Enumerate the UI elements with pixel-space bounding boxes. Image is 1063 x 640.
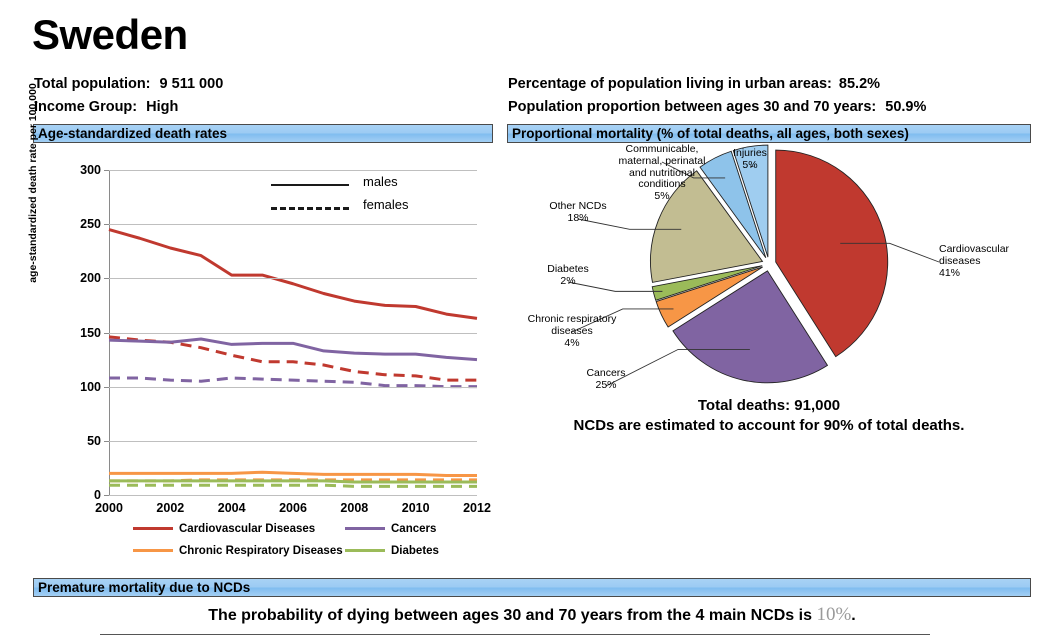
urban-population-label: Percentage of population living in urban… (508, 76, 832, 92)
grid-line (109, 333, 477, 334)
urban-population-value: 85.2% (836, 76, 880, 92)
y-axis-tick-label: 300 (80, 163, 101, 177)
pie-label-injuries: Injuries 5% (695, 148, 805, 172)
y-axis-label: age-standardized death rate per 100,000 (27, 68, 39, 298)
grid-line (109, 278, 477, 279)
income-group-line: Income Group: High (34, 99, 178, 115)
grid-line (109, 441, 477, 442)
ncd-share-text: NCDs are estimated to account for 90% of… (507, 416, 1031, 436)
pie-label-cancers: Cancers 25% (551, 368, 661, 392)
y-axis-tick (104, 387, 109, 388)
legend-label: Cancers (391, 523, 436, 535)
line-chart-plot-area: 0501001502002503002000200220042006200820… (109, 170, 477, 495)
line-series-diabetes-females (109, 485, 477, 486)
legend-label: Chronic Respiratory Diseases (179, 545, 343, 557)
page-title: Sweden (32, 14, 188, 56)
premature-text-before: The probability of dying between ages 30… (208, 607, 812, 624)
y-axis-tick (104, 278, 109, 279)
ncd-country-profile-page: Sweden Total population: 9 511 000 Incom… (0, 0, 1063, 640)
legend-item-diabetes: Diabetes (345, 545, 439, 557)
y-axis-tick (104, 224, 109, 225)
pie-label-chronic-respiratory: Chronic respiratory diseases 4% (517, 314, 627, 349)
line-series-cancers-males (109, 339, 477, 360)
x-axis-tick-label: 2002 (156, 501, 184, 515)
age-proportion-label: Population proportion between ages 30 an… (508, 99, 876, 115)
income-group-label: Income Group: (34, 99, 137, 115)
urban-population-line: Percentage of population living in urban… (508, 76, 880, 92)
total-population-line: Total population: 9 511 000 (34, 76, 223, 92)
legend-color-swatch (345, 549, 385, 552)
y-axis-tick-label: 0 (94, 488, 101, 502)
x-axis-tick-label: 2004 (218, 501, 246, 515)
legend-color-swatch (133, 527, 173, 530)
pie-footer: Total deaths: 91,000 NCDs are estimated … (507, 396, 1031, 437)
pie-label-other-ncds: Other NCDs 18% (523, 201, 633, 225)
total-population-value: 9 511 000 (155, 76, 224, 92)
y-axis-tick (104, 170, 109, 171)
grid-line (109, 224, 477, 225)
pie-label-cardiovascular: Cardiovascular diseases 41% (939, 244, 1049, 279)
x-axis-tick-label: 2000 (95, 501, 123, 515)
grid-line (109, 387, 477, 388)
line-series-cancers-females (109, 378, 477, 387)
y-axis-tick (104, 495, 109, 496)
x-axis-tick-label: 2008 (340, 501, 368, 515)
y-axis-tick-label: 100 (80, 380, 101, 394)
dashed-line-swatch (271, 207, 349, 210)
age-standardized-death-rate-chart: age-standardized death rate per 100,000 … (33, 148, 493, 568)
total-population-label: Total population: (34, 76, 151, 92)
legend-color-swatch (345, 527, 385, 530)
solid-line-swatch (271, 184, 349, 186)
y-axis-tick-label: 150 (80, 326, 101, 340)
x-axis-tick-label: 2006 (279, 501, 307, 515)
y-axis-tick (104, 441, 109, 442)
legend-label: Diabetes (391, 545, 439, 557)
premature-mortality-statement: The probability of dying between ages 30… (33, 604, 1031, 626)
pie-label-diabetes: Diabetes 2% (513, 264, 623, 288)
legend-label-females: females (363, 197, 409, 212)
premature-text-after: . (851, 607, 855, 624)
grid-line (109, 495, 477, 496)
premature-probability-value: 10% (816, 604, 851, 625)
legend-item-cancers: Cancers (345, 523, 436, 535)
footer-divider (100, 634, 930, 635)
y-axis-tick-label: 200 (80, 271, 101, 285)
grid-line (109, 170, 477, 171)
legend-label-males: males (363, 174, 398, 189)
y-axis-tick-label: 50 (87, 434, 101, 448)
legend-item-chronic-respiratory-diseases: Chronic Respiratory Diseases (133, 545, 343, 557)
section-header-premature-mortality: Premature mortality due to NCDs (33, 578, 1031, 597)
proportional-mortality-chart: Cardiovascular diseases 41%Cancers 25%Ch… (507, 146, 1031, 566)
x-axis-tick-label: 2010 (402, 501, 430, 515)
legend-item-cardiovascular-diseases: Cardiovascular Diseases (133, 523, 315, 535)
legend-color-swatch (133, 549, 173, 552)
legend-label: Cardiovascular Diseases (179, 523, 315, 535)
income-group-value: High (141, 99, 178, 115)
age-proportion-value: 50.9% (880, 99, 926, 115)
line-series-chronic-respiratory-diseases-males (109, 472, 477, 475)
section-header-age-standardized-death-rates: Age-standardized death rates (33, 124, 493, 143)
age-proportion-line: Population proportion between ages 30 an… (508, 99, 926, 115)
total-deaths-text: Total deaths: 91,000 (507, 396, 1031, 416)
line-series-diabetes-males (109, 481, 477, 482)
section-header-proportional-mortality: Proportional mortality (% of total death… (507, 124, 1031, 143)
y-axis-tick-label: 250 (80, 217, 101, 231)
line-series-cardiovascular-diseases-males (109, 230, 477, 319)
y-axis-tick (104, 333, 109, 334)
x-axis-tick-label: 2012 (463, 501, 491, 515)
